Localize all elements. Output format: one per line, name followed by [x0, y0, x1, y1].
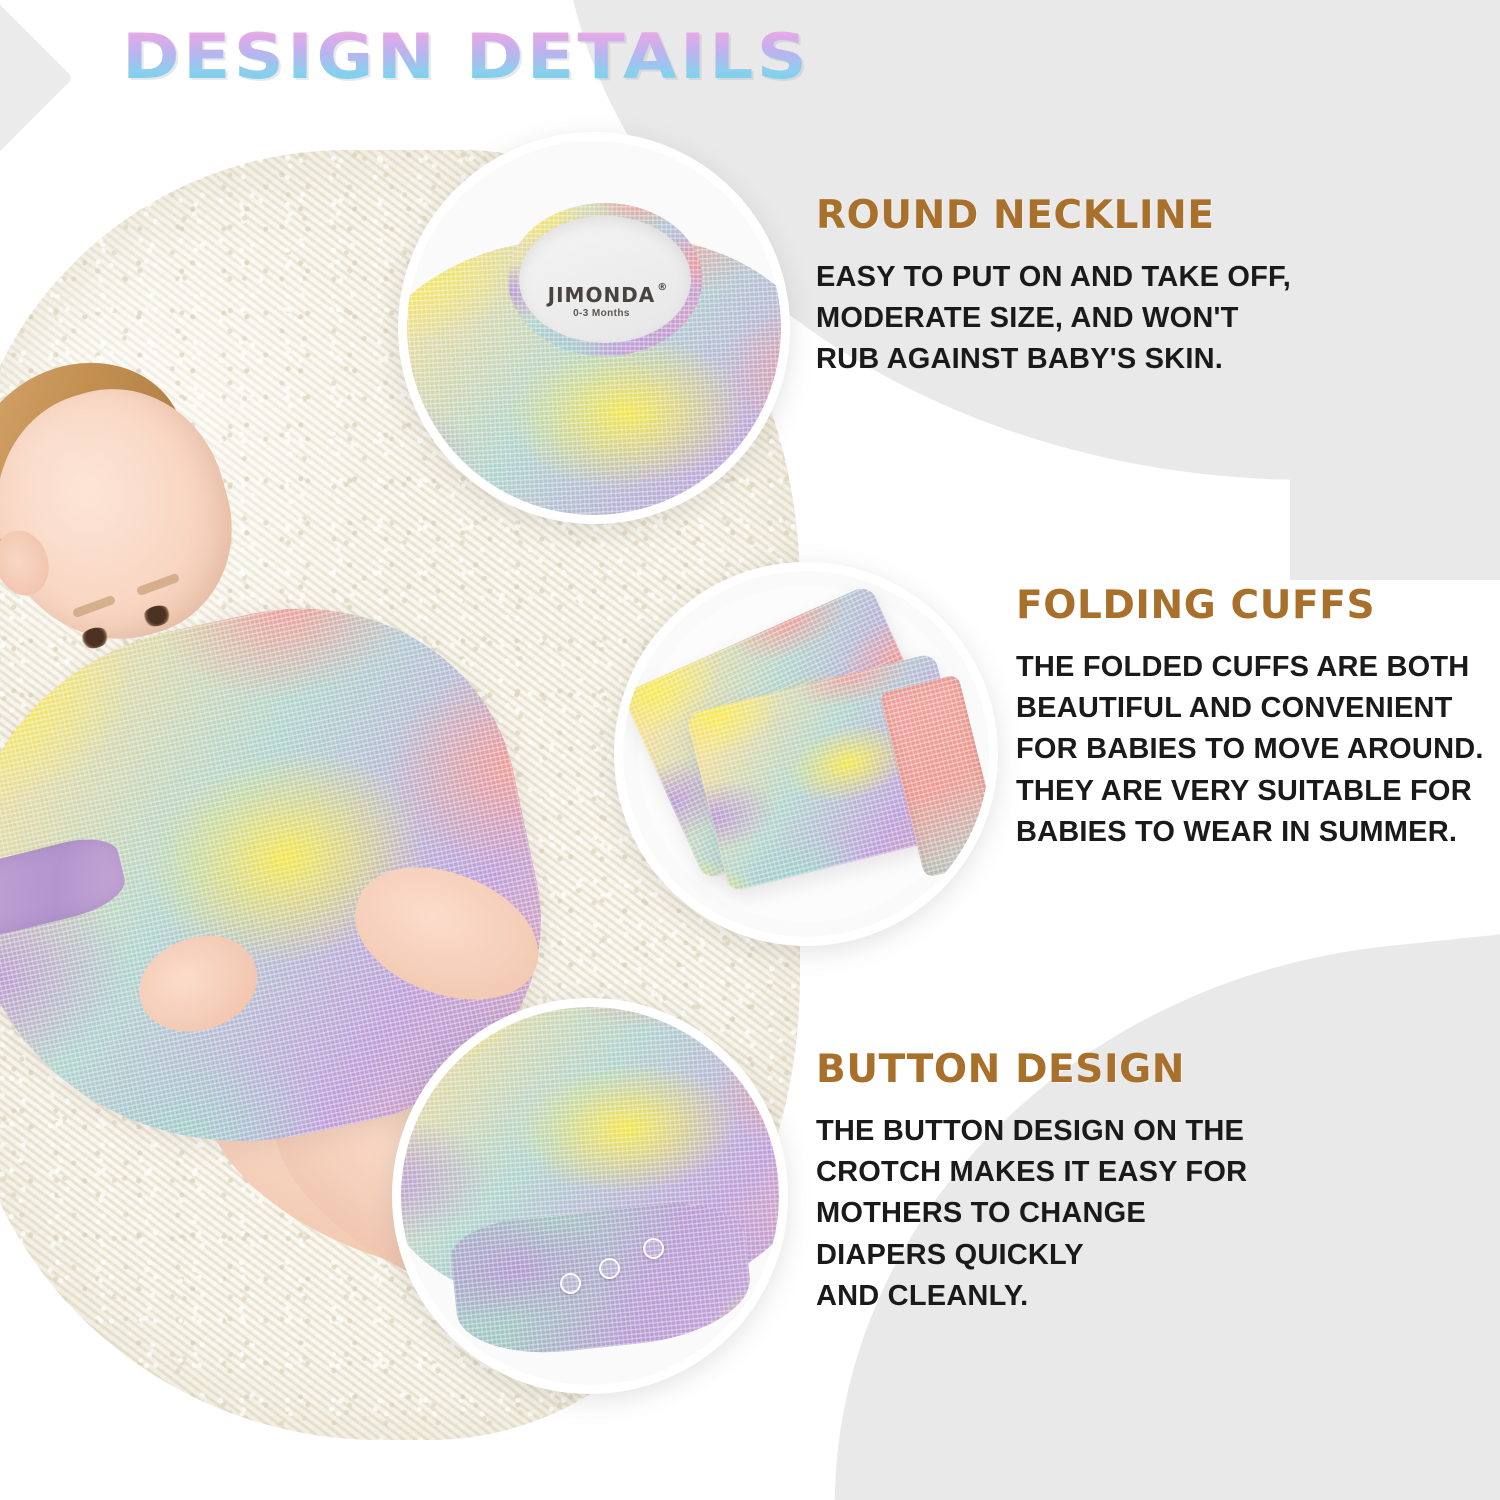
- detail-circle-button: [392, 998, 788, 1394]
- feature-body-folding-cuffs: THE FOLDED CUFFS ARE BOTH BEAUTIFUL AND …: [1016, 647, 1486, 853]
- feature-heading-folding-cuffs: FOLDING CUFFS: [1016, 586, 1486, 625]
- size-label: 0-3 Months: [573, 308, 630, 319]
- feature-block-folding-cuffs: FOLDING CUFFS THE FOLDED CUFFS ARE BOTH …: [1016, 586, 1486, 853]
- arrow-accent-icon: [0, 0, 73, 157]
- detail-button-image: [401, 1007, 779, 1385]
- waffle-knit-texture: [448, 1196, 755, 1362]
- brand-name-text: JIMONDA: [548, 283, 656, 307]
- registered-trademark-icon: ®: [657, 283, 668, 293]
- feature-heading-round-neckline: ROUND NECKLINE: [816, 196, 1376, 235]
- feature-heading-button-design: BUTTON DESIGN: [816, 1050, 1336, 1089]
- crotch-panel: [448, 1196, 755, 1362]
- brand-name: JIMONDA®: [548, 285, 656, 305]
- feature-block-round-neckline: ROUND NECKLINE EASY TO PUT ON AND TAKE O…: [816, 196, 1376, 381]
- brand-label: JIMONDA® 0-3 Months: [534, 274, 669, 330]
- detail-neckline-image: JIMONDA® 0-3 Months: [407, 141, 781, 515]
- detail-cuffs-image: [623, 571, 989, 937]
- feature-body-round-neckline: EASY TO PUT ON AND TAKE OFF, MODERATE SI…: [816, 257, 1376, 381]
- page-title: DESIGN DETAILS: [122, 26, 810, 88]
- feature-block-button-design: BUTTON DESIGN THE BUTTON DESIGN ON THE C…: [816, 1050, 1336, 1317]
- snap-button-icon: [643, 1238, 664, 1259]
- detail-circle-cuffs: [614, 562, 998, 946]
- detail-circle-neckline: JIMONDA® 0-3 Months: [398, 132, 790, 524]
- feature-body-button-design: THE BUTTON DESIGN ON THE CROTCH MAKES IT…: [816, 1111, 1336, 1317]
- infographic-page: DESIGN DETAILS: [0, 0, 1500, 1500]
